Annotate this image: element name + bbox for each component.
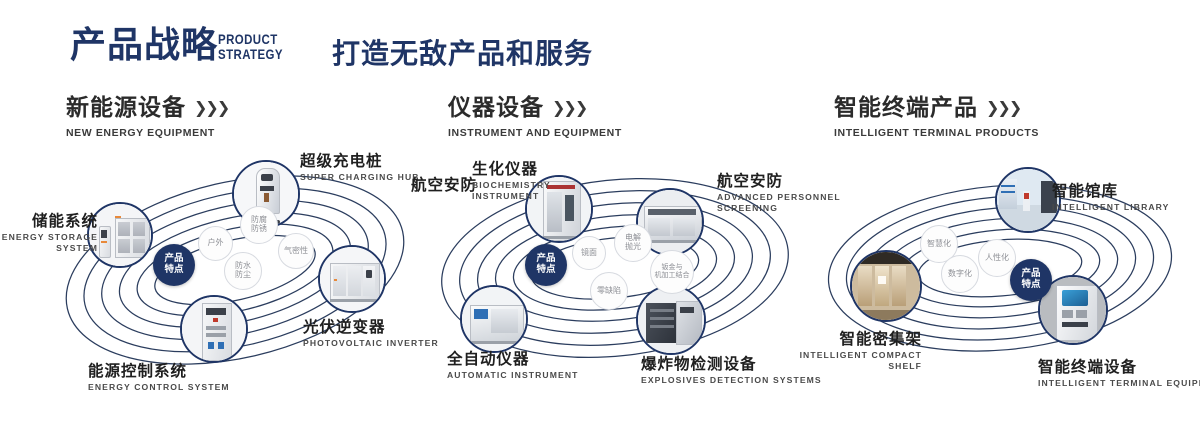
- photo-intelligent-compact-shelf: [852, 252, 920, 320]
- section-title-en: INSTRUMENT AND EQUIPMENT: [448, 127, 622, 139]
- feature-core-product-characteristics: 产品 特点: [525, 244, 567, 286]
- section-title-cn: 智能终端产品❯❯❯: [834, 95, 1039, 123]
- section-title-cn-text: 新能源设备: [66, 95, 186, 121]
- chip-label: 镜面: [581, 249, 597, 258]
- node-bubble-energy-control-system[interactable]: [180, 295, 248, 363]
- page-title: 产品战略: [70, 26, 218, 66]
- feature-chip-sheet-metal-machining: 钣金与 机加工结合: [650, 250, 694, 294]
- label-cn: 储能系统: [0, 212, 98, 230]
- label-energy-storage-system: 储能系统 ENERGY STORAGE SYSTEM: [0, 212, 98, 254]
- page-title-english-line1: PRODUCT: [218, 32, 283, 47]
- chip-label: 气密性: [284, 247, 308, 256]
- section-title-cn-text: 仪器设备: [448, 95, 544, 121]
- feature-core-product-characteristics: 产品 特点: [1010, 259, 1052, 301]
- label-cn: 光伏逆变器: [303, 318, 439, 336]
- section-title-cn: 仪器设备❯❯❯: [448, 95, 622, 123]
- label-en: AUTOMATIC INSTRUMENT: [447, 370, 578, 381]
- section-title-instrument: 仪器设备❯❯❯ INSTRUMENT AND EQUIPMENT: [448, 95, 622, 139]
- label-en: INTELLIGENT LIBRARY: [1052, 202, 1170, 213]
- label-en: SUPER CHARGING HUB: [300, 172, 420, 183]
- label-en: PHOTOVOLTAIC INVERTER: [303, 338, 439, 349]
- label-automatic-instrument: 全自动仪器 AUTOMATIC INSTRUMENT: [447, 350, 578, 381]
- label-intelligent-library: 智能馆库 INTELLIGENT LIBRARY: [1052, 182, 1170, 213]
- chip-label: 零缺陷: [597, 287, 621, 296]
- label-en-line2: SHELF: [790, 361, 922, 372]
- label-en-line2: SYSTEM: [0, 243, 98, 254]
- chip-label: 数字化: [948, 270, 972, 279]
- feature-core-product-characteristics: 产品 特点: [153, 244, 195, 286]
- label-cn: 智能密集架: [790, 330, 922, 348]
- label-en-line1: BIOCHEMISTRY: [472, 180, 551, 191]
- product-strategy-infographic: 产品战略 PRODUCT STRATEGY 打造无敌产品和服务 新能源设备❯❯❯…: [0, 0, 1200, 422]
- chip-label-line2: 防尘: [235, 271, 251, 280]
- label-cn: 能源控制系统: [88, 362, 230, 380]
- chip-label-line2: 防锈: [251, 225, 267, 234]
- label-en: ENERGY CONTROL SYSTEM: [88, 382, 230, 393]
- label-cn: 超级充电桩: [300, 152, 420, 170]
- node-bubble-intelligent-compact-shelf[interactable]: [850, 250, 922, 322]
- section-title-cn-text: 智能终端产品: [834, 95, 978, 121]
- label-en-line1: ENERGY STORAGE: [0, 232, 98, 243]
- chip-label: 人性化: [985, 254, 1009, 263]
- label-en-line2: INSTRUMENT: [472, 191, 551, 202]
- page-headline: 打造无敌产品和服务: [332, 32, 593, 72]
- core-label-line2: 特点: [536, 265, 555, 276]
- page-title-english-line2: STRATEGY: [218, 47, 283, 62]
- label-en: INTELLIGENT TERMINAL EQUIPMENT: [1038, 378, 1200, 389]
- node-bubble-explosives-detection-systems[interactable]: [636, 285, 706, 355]
- label-intelligent-compact-shelf: 智能密集架 INTELLIGENT COMPACT SHELF: [790, 330, 922, 372]
- label-cn: 全自动仪器: [447, 350, 578, 368]
- photo-photovoltaic-inverter: [320, 247, 384, 311]
- chip-label: 智慧化: [927, 240, 951, 249]
- photo-explosives-detection-systems: [638, 287, 704, 353]
- label-photovoltaic-inverter: 光伏逆变器 PHOTOVOLTAIC INVERTER: [303, 318, 439, 349]
- photo-automatic-instrument: [462, 287, 526, 351]
- feature-chip-airtightness: 气密性: [278, 233, 314, 269]
- page-title-english: PRODUCT STRATEGY: [218, 32, 283, 62]
- label-cn: 智能馆库: [1052, 182, 1170, 200]
- section-title-cn: 新能源设备❯❯❯: [66, 95, 228, 123]
- label-cn: 生化仪器: [472, 160, 551, 178]
- photo-intelligent-library: [997, 169, 1059, 231]
- label-en: BIOCHEMISTRY INSTRUMENT: [472, 180, 551, 202]
- chevrons-right-icon: ❯❯❯: [986, 98, 1020, 117]
- feature-chip-humanized: 人性化: [978, 239, 1016, 277]
- core-label-line2: 特点: [1021, 280, 1040, 291]
- chip-label-line2: 机加工结合: [655, 272, 690, 280]
- node-bubble-automatic-instrument[interactable]: [460, 285, 528, 353]
- core-label-line2: 特点: [164, 265, 183, 276]
- label-en: INTELLIGENT COMPACT SHELF: [790, 350, 922, 372]
- label-en-line1: INTELLIGENT COMPACT: [790, 350, 922, 361]
- label-cn: 智能终端设备: [1038, 358, 1200, 376]
- feature-chip-digitalized: 数字化: [941, 255, 979, 293]
- feature-chip-waterproof-dustproof: 防水 防尘: [224, 252, 262, 290]
- chevrons-right-icon: ❯❯❯: [552, 98, 586, 117]
- section-title-new-energy: 新能源设备❯❯❯ NEW ENERGY EQUIPMENT: [66, 95, 228, 139]
- page-header: 产品战略 PRODUCT STRATEGY 打造无敌产品和服务: [0, 0, 1200, 88]
- label-cn: 航空安防: [411, 176, 477, 194]
- photo-energy-storage-system: [89, 204, 151, 266]
- section-title-en: INTELLIGENT TERMINAL PRODUCTS: [834, 127, 1039, 139]
- chevrons-right-icon: ❯❯❯: [194, 98, 228, 117]
- feature-chip-anti-corrosion: 防腐 防锈: [240, 206, 278, 244]
- section-title-intelligent-terminal: 智能终端产品❯❯❯ INTELLIGENT TERMINAL PRODUCTS: [834, 95, 1039, 139]
- label-en: ENERGY STORAGE SYSTEM: [0, 232, 98, 254]
- label-intelligent-terminal-equipment: 智能终端设备 INTELLIGENT TERMINAL EQUIPMENT: [1038, 358, 1200, 389]
- label-energy-control-system: 能源控制系统 ENERGY CONTROL SYSTEM: [88, 362, 230, 393]
- feature-chip-electrolytic-polishing: 电解 抛光: [614, 224, 652, 262]
- chip-label: 户外: [208, 239, 224, 248]
- feature-chip-mirror-finish: 镜面: [572, 236, 606, 270]
- node-bubble-photovoltaic-inverter[interactable]: [318, 245, 386, 313]
- feature-chip-zero-defect: 零缺陷: [590, 272, 628, 310]
- feature-chip-outdoor: 户外: [198, 226, 233, 261]
- section-title-en: NEW ENERGY EQUIPMENT: [66, 127, 228, 139]
- label-en: EXPLOSIVES DETECTION SYSTEMS: [641, 375, 822, 386]
- label-aviation-security-left: 航空安防: [411, 176, 477, 194]
- photo-energy-control-system: [182, 297, 246, 361]
- chip-label-line2: 抛光: [625, 243, 641, 252]
- label-super-charging-hub: 超级充电桩 SUPER CHARGING HUB: [300, 152, 420, 183]
- label-biochemistry-instrument: 生化仪器 BIOCHEMISTRY INSTRUMENT: [472, 160, 551, 202]
